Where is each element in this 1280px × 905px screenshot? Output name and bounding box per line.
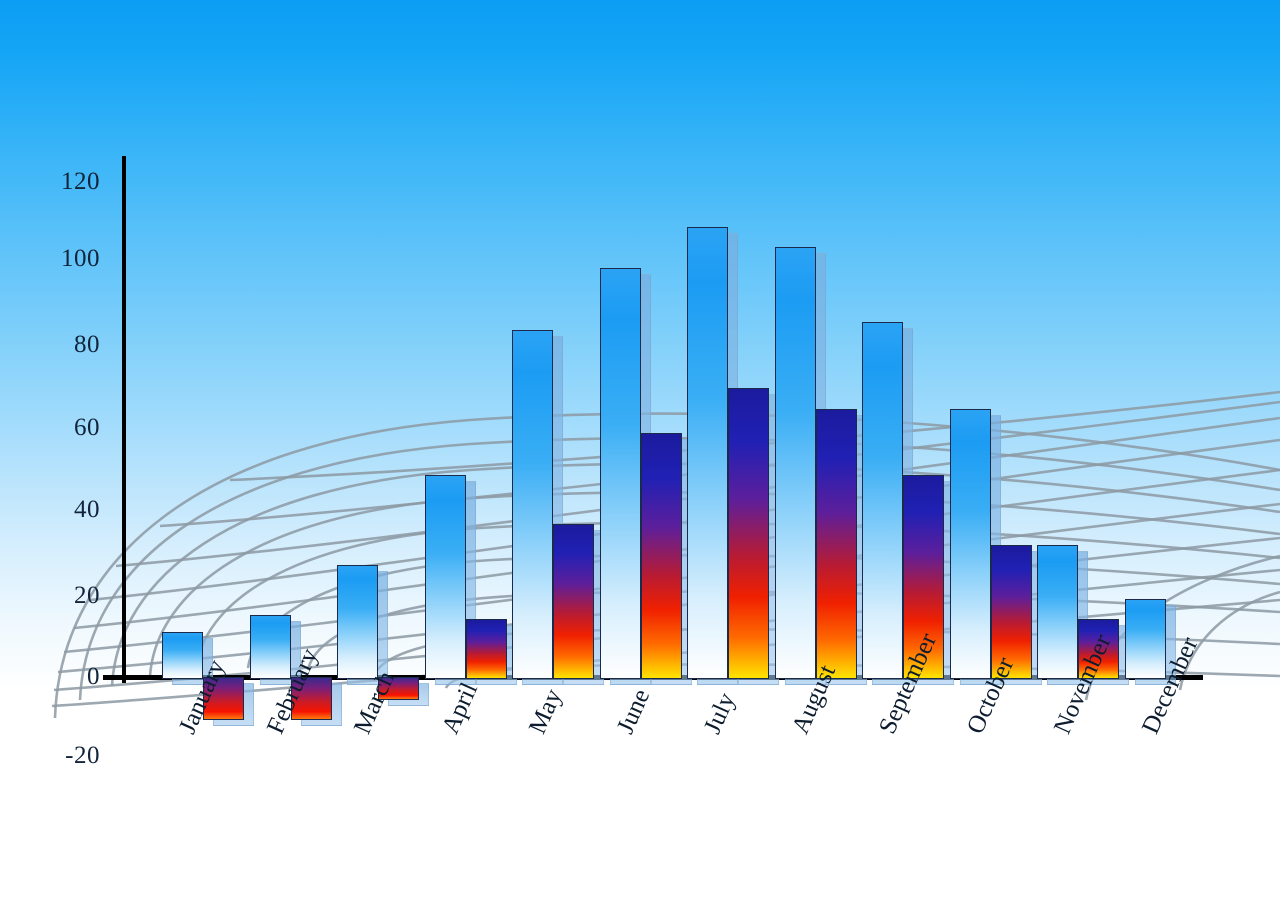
bar-fire-july: [728, 388, 767, 677]
bar-fire-june: [641, 433, 680, 677]
bar-blue-april: [425, 475, 464, 677]
bar-fire-august: [816, 409, 855, 677]
bar-blue-december: [1125, 599, 1164, 677]
bar-blue-august: [775, 247, 814, 677]
y-tick-label-40: 40: [74, 496, 100, 524]
x-label-june: June: [612, 685, 656, 738]
bar-blue-june: [600, 268, 639, 677]
y-axis: [122, 156, 126, 683]
y-tick-label-20: 20: [74, 582, 100, 610]
bar-fire-april: [466, 619, 505, 677]
bar-blue-july: [687, 227, 726, 677]
bar-blue-may: [512, 330, 551, 677]
x-label-may: May: [524, 685, 568, 738]
y-tick-label-0: 0: [87, 663, 100, 691]
y-tick-label-80: 80: [74, 331, 100, 359]
plot-area: 120 100 80 60 40 20 0 -20 JanuaryFebruar…: [0, 0, 1280, 905]
bar-blue-october: [950, 409, 989, 677]
y-tick-0: [110, 675, 138, 679]
bar-fire-may: [553, 524, 592, 677]
y-tick-label-60: 60: [74, 414, 100, 442]
y-tick-label-100: 100: [61, 245, 100, 273]
bar-blue-march: [337, 565, 376, 677]
x-label-april: April: [437, 679, 484, 739]
y-tick-label-120: 120: [61, 168, 100, 196]
bar-blue-january: [162, 632, 201, 677]
x-label-july: July: [699, 689, 742, 738]
chart-canvas: 120 100 80 60 40 20 0 -20 JanuaryFebruar…: [0, 0, 1280, 905]
bar-blue-november: [1037, 545, 1076, 677]
y-tick-label-neg20: -20: [65, 742, 100, 770]
bar-blue-february: [250, 615, 289, 677]
bar-blue-september: [862, 322, 901, 677]
